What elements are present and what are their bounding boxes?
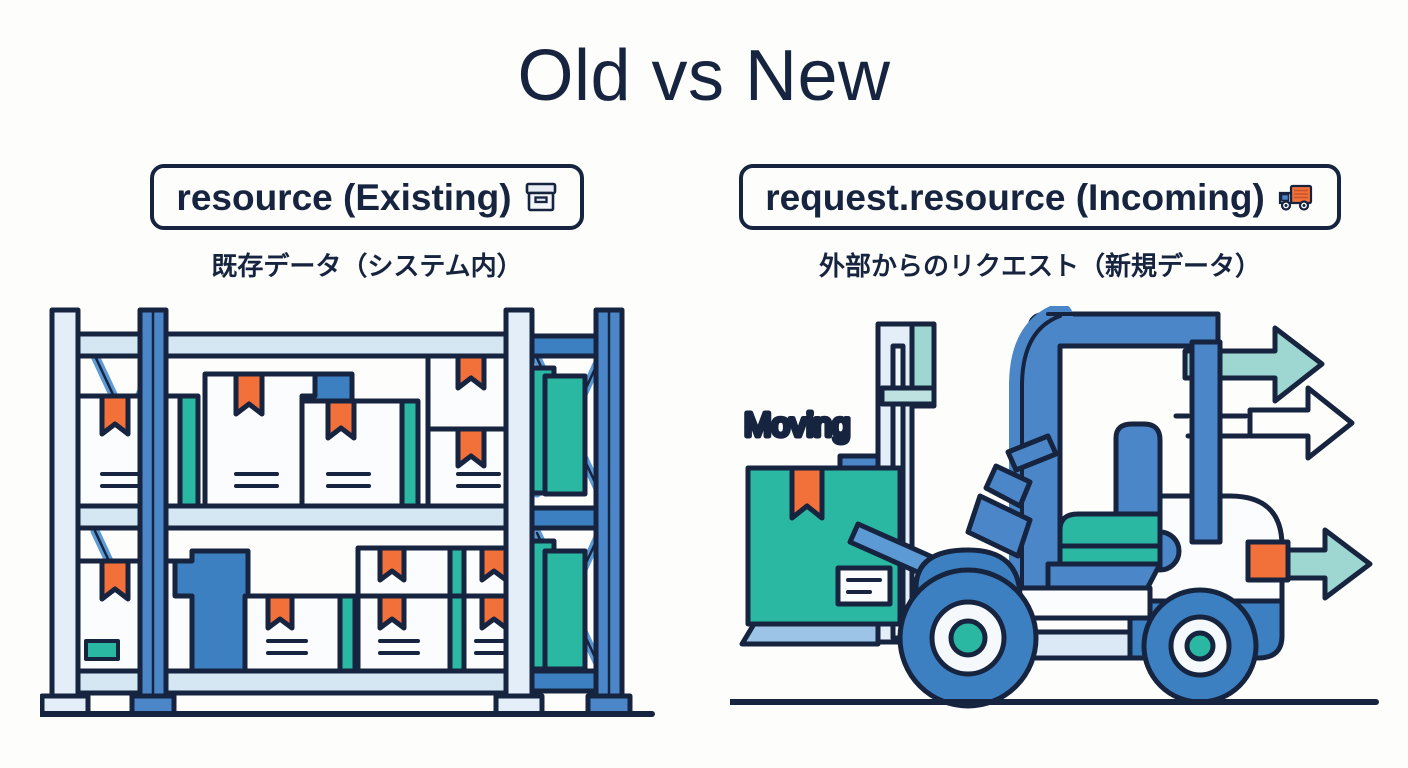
page-title: Old vs New <box>0 40 1408 112</box>
archive-box-icon <box>524 180 558 214</box>
caption-incoming-request: 外部からのリクエスト（新規データ） <box>700 246 1380 283</box>
illustration-warehouse-shelf <box>40 296 660 726</box>
motion-arrow-bottom <box>1278 530 1370 598</box>
panel-existing-resource: resource (Existing) 既存データ（システム内） <box>52 164 682 283</box>
label-text-request-resource-incoming: request.resource (Incoming) <box>765 179 1265 216</box>
diagram-canvas: Old vs New resource (Existing) 既存データ（システ… <box>0 0 1408 768</box>
delivery-truck-icon <box>1277 181 1315 213</box>
illustration-forklift: Moving <box>730 306 1380 726</box>
label-box-resource-existing: resource (Existing) <box>150 164 583 230</box>
label-box-request-resource-incoming: request.resource (Incoming) <box>739 164 1341 230</box>
caption-existing-data: 既存データ（システム内） <box>52 246 682 283</box>
panel-incoming-request: request.resource (Incoming) 外部からのリクエスト（新… <box>700 164 1380 283</box>
moving-annotation-label: Moving <box>744 406 850 443</box>
label-text-resource-existing: resource (Existing) <box>176 179 511 216</box>
